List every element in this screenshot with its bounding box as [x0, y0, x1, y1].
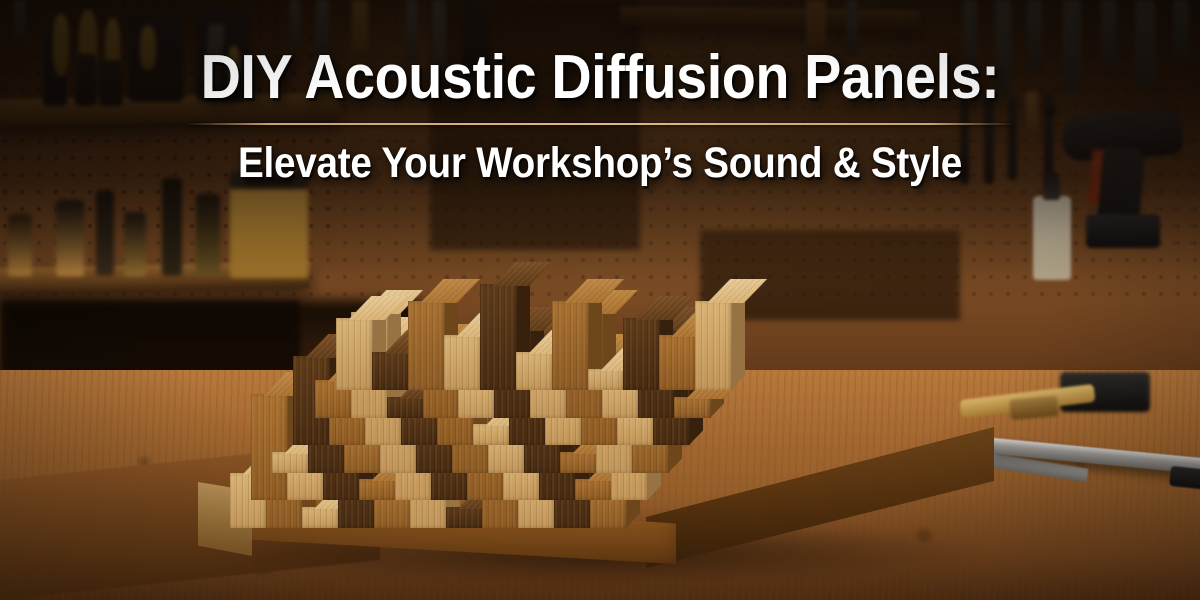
block-front-face	[272, 452, 309, 473]
block-front-face	[473, 424, 510, 445]
block-front-face	[575, 479, 612, 500]
diffuser-block	[480, 262, 517, 390]
diffuser-block	[623, 296, 660, 390]
page-subtitle: Elevate Your Workshop’s Sound & Style	[60, 141, 1140, 186]
block-front-face	[480, 284, 517, 390]
diffuser-block	[695, 279, 732, 390]
diffuser-block-grid	[196, 228, 986, 576]
block-front-face	[302, 507, 339, 528]
block-front-face	[695, 301, 732, 390]
hero-banner: DIY Acoustic Diffusion Panels: Elevate Y…	[0, 0, 1200, 600]
diffuser-block	[336, 296, 373, 390]
block-top-face	[420, 279, 480, 303]
block-front-face	[623, 318, 660, 390]
page-title: DIY Acoustic Diffusion Panels:	[60, 46, 1140, 109]
block-front-face	[372, 352, 409, 390]
diffuser-block	[408, 279, 445, 390]
block-front-face	[588, 369, 625, 390]
acoustic-diffuser-panel	[196, 228, 986, 576]
diffuser-block	[588, 347, 625, 390]
block-front-face	[408, 301, 445, 390]
diffuser-block	[444, 313, 481, 390]
tool-ferrule	[1009, 396, 1059, 420]
diffuser-block	[659, 313, 696, 390]
block-front-face	[359, 479, 396, 500]
block-top-face	[707, 279, 767, 303]
block-top-face	[492, 262, 552, 286]
block-front-face	[560, 452, 597, 473]
block-front-face	[552, 301, 589, 390]
block-front-face	[659, 335, 696, 390]
diffuser-block	[516, 330, 553, 390]
title-divider-rule	[187, 123, 1013, 125]
block-front-face	[674, 397, 711, 418]
block-front-face	[336, 318, 373, 390]
block-front-face	[446, 507, 483, 528]
diffuser-block	[372, 330, 409, 390]
block-front-face	[444, 335, 481, 390]
block-front-face	[516, 352, 553, 390]
headline-block: DIY Acoustic Diffusion Panels: Elevate Y…	[0, 46, 1200, 186]
block-front-face	[387, 397, 424, 418]
diffuser-block	[552, 279, 589, 390]
